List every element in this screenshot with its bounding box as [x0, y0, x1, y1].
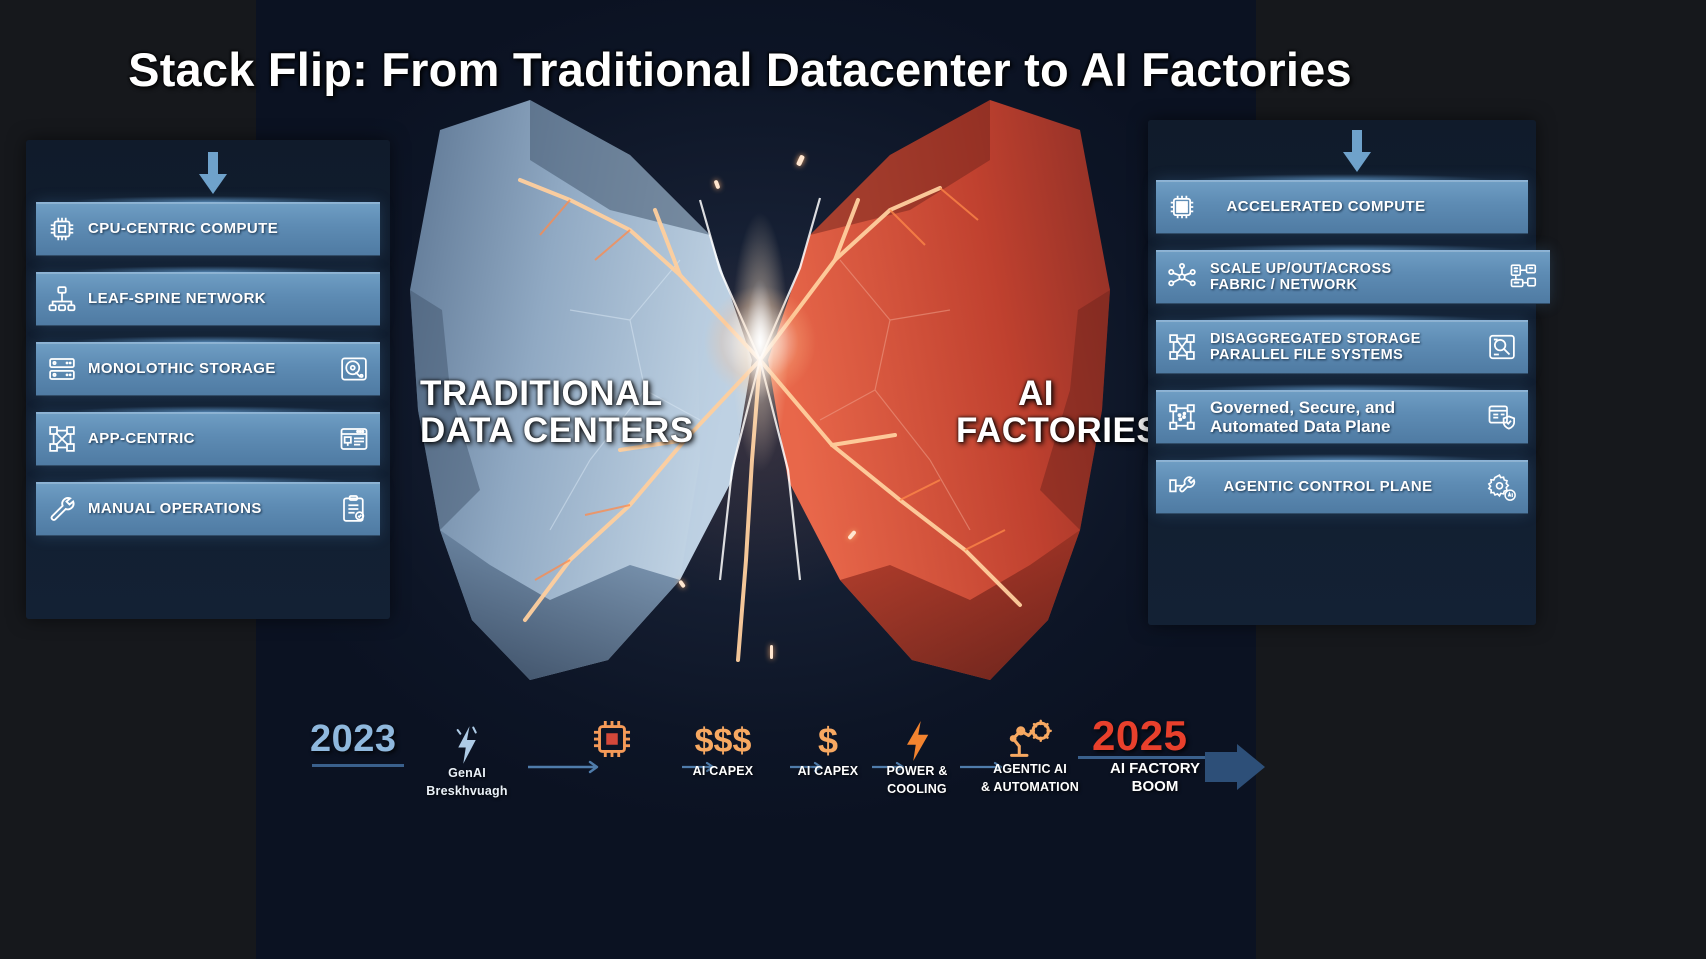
browser-window-icon [328, 424, 380, 454]
collision-illustration: TRADITIONAL DATA CENTERS AI FACTORIES [380, 60, 1140, 700]
svg-text:$$$: $$$ [695, 722, 752, 760]
stack-row-label: MANUAL OPERATIONS [88, 501, 328, 518]
arrow-right-icon [528, 760, 608, 774]
data-mesh-icon [1156, 402, 1208, 432]
stack-row-monolothic-storage[interactable]: MONOLOTHIC STORAGE [36, 342, 380, 396]
stack-row-label: MONOLOTHIC STORAGE [88, 361, 328, 378]
infographic-stage: TRADITIONAL DATA CENTERS AI FACTORIES St… [0, 0, 1706, 959]
stack-row-leaf-spine-network[interactable]: LEAF-SPINE NETWORK [36, 272, 380, 326]
wrench-plug-icon [1156, 472, 1208, 502]
panel-ai-factory-stack: ACCELERATED COMPUTE SCALE UP/OUT/ACROSS … [1148, 120, 1536, 625]
cpu-chip-icon [36, 214, 88, 244]
stack-row-app-centric[interactable]: APP-CENTRIC [36, 412, 380, 466]
timeline-node-caption: AI CAPEX [798, 764, 859, 778]
stack-row-scale-fabric-network[interactable]: SCALE UP/OUT/ACROSS FABRIC / NETWORK [1156, 250, 1550, 304]
stack-row-disaggregated-storage[interactable]: DISAGGREGATED STORAGE PARALLEL FILE SYST… [1156, 320, 1528, 374]
panel-traditional-stack: CPU-CENTRIC COMPUTE LEAF-SPINE NETWORK [26, 140, 390, 619]
timeline-start-year: 2023 [310, 718, 397, 761]
wrench-icon [36, 494, 88, 524]
timeline-end-year: 2025 [1092, 712, 1187, 760]
timeline-node-power-cooling[interactable]: POWER & COOLING [862, 716, 972, 798]
stack-row-label: SCALE UP/OUT/ACROSS FABRIC / NETWORK [1208, 261, 1498, 293]
network-tree-icon [36, 284, 88, 314]
stack-row-cpu-centric-compute[interactable]: CPU-CENTRIC COMPUTE [36, 202, 380, 256]
down-arrow-icon [196, 150, 230, 196]
gpu-chip-icon [1156, 192, 1208, 222]
svg-text:$: $ [818, 720, 838, 761]
server-rack-icon [36, 354, 88, 384]
stack-row-label: Governed, Secure, and Automated Data Pla… [1208, 398, 1476, 436]
timeline-node-caption: GenAI Breskhvuagh [426, 766, 507, 798]
timeline-node-genai-breakthrough[interactable]: GenAI Breskhvuagh [412, 718, 522, 800]
timeline: 2023 GenAI Breskhvuagh [300, 700, 1260, 860]
spark [770, 645, 773, 659]
label-ai-factories: AI FACTORIES [956, 376, 1116, 450]
stack-row-label: DISAGGREGATED STORAGE PARALLEL FILE SYST… [1208, 331, 1476, 363]
power-bolt-icon [862, 716, 972, 762]
stack-row-accelerated-compute[interactable]: ACCELERATED COMPUTE [1156, 180, 1528, 234]
stack-row-label: LEAF-SPINE NETWORK [88, 291, 328, 308]
fabric-hub-icon [1156, 262, 1208, 292]
stack-row-label: APP-CENTRIC [88, 431, 328, 448]
timeline-rule-start [312, 764, 404, 767]
stack-row-agentic-control-plane[interactable]: AGENTIC CONTROL PLANE [1156, 460, 1528, 514]
lightning-bolt-icon [412, 718, 522, 764]
storage-search-icon [1476, 332, 1528, 362]
stack-row-label: CPU-CENTRIC COMPUTE [88, 221, 328, 238]
clipboard-checklist-icon [328, 494, 380, 524]
shield-data-icon [1476, 402, 1528, 432]
timeline-node-chip[interactable] [552, 716, 672, 762]
node-graph-icon [1156, 332, 1208, 362]
ai-gear-icon [1476, 472, 1528, 502]
stack-row-label: ACCELERATED COMPUTE [1208, 199, 1476, 216]
timeline-node-caption: AGENTIC AI & AUTOMATION [981, 762, 1079, 794]
hard-disk-icon [328, 354, 380, 384]
down-arrow-icon [1340, 128, 1374, 174]
page-title: Stack Flip: From Traditional Datacenter … [0, 42, 1480, 97]
label-traditional-data-centers: TRADITIONAL DATA CENTERS [420, 376, 694, 450]
timeline-node-caption: POWER & COOLING [886, 764, 947, 796]
big-arrow-right-icon [1205, 744, 1265, 795]
timeline-node-caption: AI CAPEX [693, 764, 754, 778]
cpu-chip-icon [552, 716, 672, 762]
stack-row-manual-operations[interactable]: MANUAL OPERATIONS [36, 482, 380, 536]
stack-row-label: AGENTIC CONTROL PLANE [1208, 479, 1476, 496]
robot-arm-gear-icon [960, 714, 1100, 760]
node-graph-icon [36, 424, 88, 454]
server-link-icon [1498, 262, 1550, 292]
stack-row-governed-data-plane[interactable]: Governed, Secure, and Automated Data Pla… [1156, 390, 1528, 444]
